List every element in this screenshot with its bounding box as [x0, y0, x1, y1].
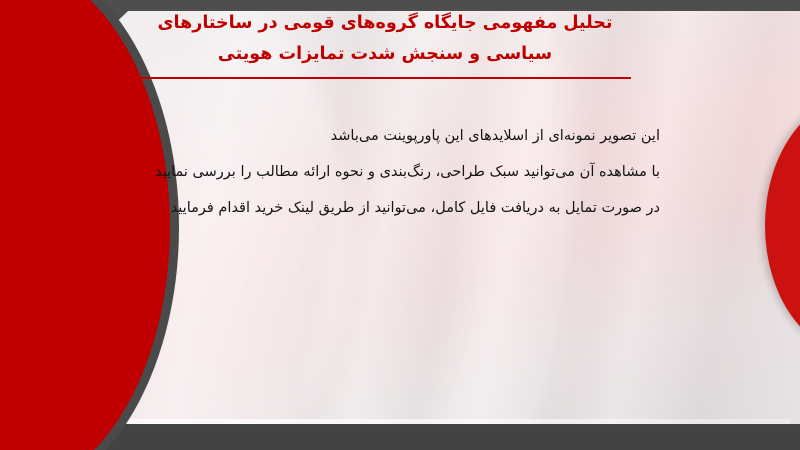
body-line-1: این تصویر نمونه‌ای از اسلایدهای این پاور…: [140, 118, 660, 154]
title-underline-rule: [135, 77, 631, 79]
body-line-3: در صورت تمایل به دریافت فایل کامل، می‌تو…: [140, 190, 660, 226]
slide-title-line-2: سیاسی و سنجش شدت تمایزات هویتی: [120, 39, 650, 70]
slide-title-line-1: تحلیل مفهومی جایگاه گروه‌های قومی در ساخ…: [120, 8, 650, 39]
body-line-2: با مشاهده آن می‌توانید سبک طراحی، رنگ‌بن…: [140, 154, 660, 190]
slide-body-text: این تصویر نمونه‌ای از اسلایدهای این پاور…: [140, 118, 660, 226]
slide-title: تحلیل مفهومی جایگاه گروه‌های قومی در ساخ…: [120, 8, 650, 70]
presentation-slide: تحلیل مفهومی جایگاه گروه‌های قومی در ساخ…: [0, 0, 800, 450]
